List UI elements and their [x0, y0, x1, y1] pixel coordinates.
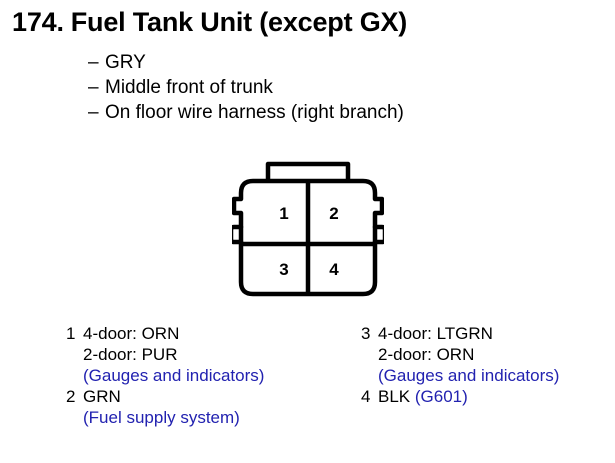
pin-legend-entry: 34-door: LTGRN32-door: ORN3(Gauges and i…	[361, 323, 615, 386]
bullet-dash-icon: –	[88, 100, 105, 125]
pin-legend-line: 4BLK (G601)	[361, 386, 615, 407]
pin-legend-left-column: 14-door: ORN12-door: PUR1(Gauges and ind…	[66, 323, 346, 428]
connector-top-tab	[268, 164, 348, 181]
pin-number-spacer: 3	[361, 344, 378, 365]
pin-system-note: (Gauges and indicators)	[378, 366, 559, 385]
pin-system-note: (Gauges and indicators)	[83, 366, 264, 385]
pin-circuit-label: 4-door: LTGRN	[378, 324, 493, 343]
cavity-number-1: 1	[279, 204, 288, 223]
pin-number-spacer: 1	[66, 365, 83, 386]
page-title-text: Fuel Tank Unit (except GX)	[71, 7, 407, 37]
pin-circuit-label: 2-door: PUR	[83, 345, 177, 364]
pin-circuit-label: 4-door: ORN	[83, 324, 179, 343]
connector-diagram: 1 2 3 4	[232, 155, 384, 307]
connector-attribute-item: –GRY	[88, 50, 558, 75]
pin-legend-line: 2(Fuel supply system)	[66, 407, 346, 428]
pin-legend-entry: 2GRN2(Fuel supply system)	[66, 386, 346, 428]
pin-legend-line: 1(Gauges and indicators)	[66, 365, 346, 386]
pin-legend-entry: 4BLK (G601)	[361, 386, 615, 407]
pin-number-spacer: 3	[361, 365, 378, 386]
pin-legend-line: 34-door: LTGRN	[361, 323, 615, 344]
pin-number: 2	[66, 386, 83, 407]
pin-system-note: (G601)	[415, 387, 468, 406]
connector-reference-page: 174.Fuel Tank Unit (except GX) –GRY–Midd…	[0, 0, 615, 463]
pin-number-spacer: 2	[66, 407, 83, 428]
pin-circuit-label: GRN	[83, 387, 121, 406]
connector-attribute-item: –Middle front of trunk	[88, 75, 558, 100]
pin-legend-line: 2GRN	[66, 386, 346, 407]
cavity-number-2: 2	[329, 204, 338, 223]
bullet-dash-icon: –	[88, 50, 105, 75]
pin-number: 4	[361, 386, 378, 407]
pin-legend-line: 32-door: ORN	[361, 344, 615, 365]
bullet-dash-icon: –	[88, 75, 105, 100]
page-title: 174.Fuel Tank Unit (except GX)	[12, 5, 407, 39]
connector-attribute-label: Middle front of trunk	[105, 77, 273, 98]
pin-legend-line: 14-door: ORN	[66, 323, 346, 344]
pin-legend-line: 3(Gauges and indicators)	[361, 365, 615, 386]
pin-legend-line: 12-door: PUR	[66, 344, 346, 365]
pin-number: 1	[66, 323, 83, 344]
pin-number-spacer: 1	[66, 344, 83, 365]
page-title-number: 174.	[12, 7, 64, 37]
connector-attributes-list: –GRY–Middle front of trunk–On floor wire…	[88, 50, 558, 125]
pin-legend: 14-door: ORN12-door: PUR1(Gauges and ind…	[0, 323, 615, 463]
connector-attribute-label: GRY	[105, 52, 146, 73]
connector-svg: 1 2 3 4	[232, 155, 384, 307]
pin-circuit-label: BLK	[378, 387, 415, 406]
connector-attribute-item: –On floor wire harness (right branch)	[88, 100, 558, 125]
pin-system-note: (Fuel supply system)	[83, 408, 240, 427]
connector-attribute-label: On floor wire harness (right branch)	[105, 102, 404, 123]
pin-circuit-label: 2-door: ORN	[378, 345, 474, 364]
pin-legend-entry: 14-door: ORN12-door: PUR1(Gauges and ind…	[66, 323, 346, 386]
cavity-number-4: 4	[329, 260, 339, 279]
cavity-number-3: 3	[279, 260, 288, 279]
pin-number: 3	[361, 323, 378, 344]
pin-legend-right-column: 34-door: LTGRN32-door: ORN3(Gauges and i…	[361, 323, 615, 407]
